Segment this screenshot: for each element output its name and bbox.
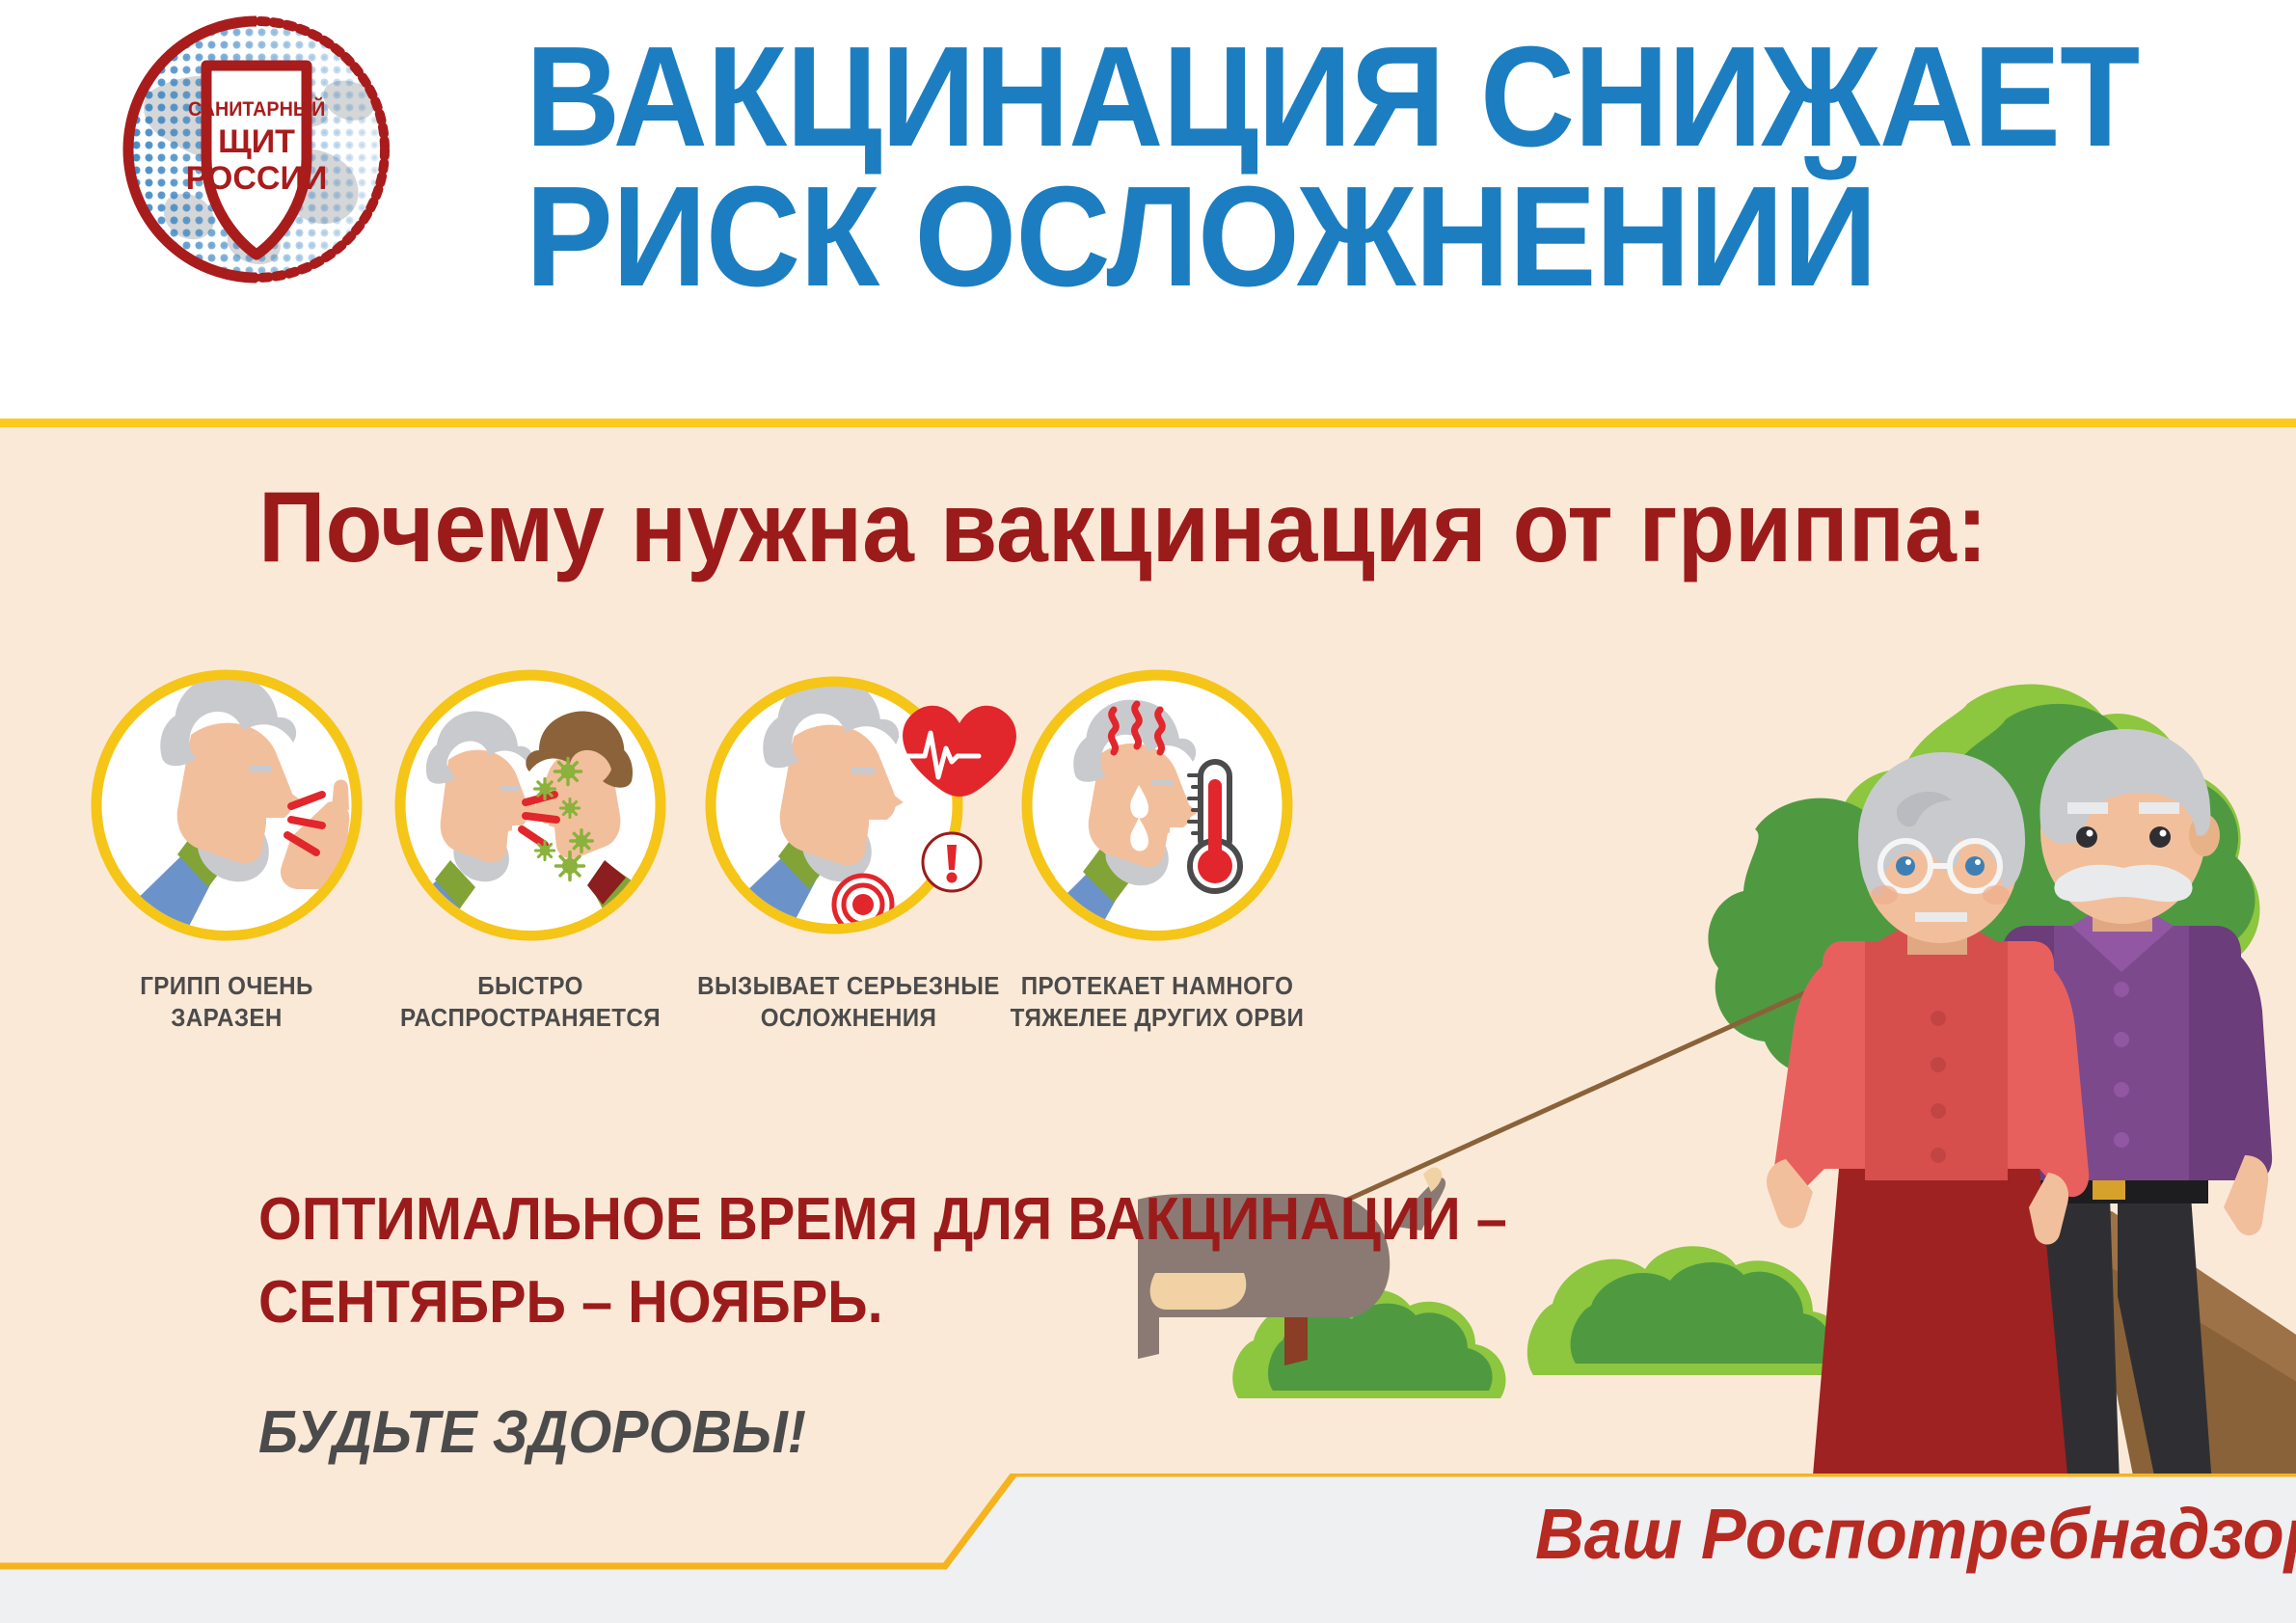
message-line-2: СЕНТЯБРЬ – НОЯБРЬ.: [258, 1261, 1507, 1344]
logo-line2: ЩИТ: [218, 123, 295, 160]
poster-title: ВАКЦИНАЦИЯ СНИЖАЕТ РИСК ОСЛОЖНЕНИЙ: [526, 27, 2261, 307]
eye-icon: [2076, 826, 2097, 848]
eye-icon: [2149, 826, 2171, 848]
logo-line3: РОССИИ: [186, 160, 328, 197]
health-wish: БУДЬТЕ ЗДОРОВЫ!: [258, 1403, 1507, 1463]
section-title: Почему нужна вакцинация от гриппа:: [258, 477, 1987, 578]
footer-organization-label: Ваш Роспотребнадзор: [1535, 1499, 2296, 1570]
moustache-icon: [2054, 865, 2192, 902]
header-divider-rule: [0, 419, 2296, 427]
vaccination-message-block: ОПТИМАЛЬНОЕ ВРЕМЯ ДЛЯ ВАКЦИНАЦИИ – СЕНТЯ…: [258, 1178, 1601, 1463]
reason-caption: ПРОТЕКАЕТ НАМНОГО ТЯЖЕЛЕЕ ДРУГИХ ОРВИ: [942, 970, 1372, 1035]
reason-item-severity: ПРОТЕКАЕТ НАМНОГО ТЯЖЕЛЕЕ ДРУГИХ ОРВИ: [926, 665, 1389, 1035]
caption-line-1: ПРОТЕКАЕТ НАМНОГО: [942, 970, 1372, 1002]
poster-root: САНИТАРНЫЙ ЩИТ РОССИИ ВАКЦИНАЦИЯ СНИЖАЕТ…: [0, 0, 2296, 1623]
message-line-1: ОПТИМАЛЬНОЕ ВРЕМЯ ДЛЯ ВАКЦИНАЦИИ –: [258, 1178, 1507, 1261]
title-line-2: РИСК ОСЛОЖНЕНИЙ: [526, 167, 2122, 307]
eye-icon: [1965, 856, 1985, 876]
poster-footer: Ваш Роспотребнадзор: [0, 1474, 2296, 1623]
caption-line-2: ТЯЖЕЛЕЕ ДРУГИХ ОРВИ: [942, 1002, 1372, 1034]
sanitary-shield-logo: САНИТАРНЫЙ ЩИТ РОССИИ: [93, 14, 420, 285]
poster-header: САНИТАРНЫЙ ЩИТ РОССИИ ВАКЦИНАЦИЯ СНИЖАЕТ…: [0, 0, 2296, 419]
title-line-1: ВАКЦИНАЦИЯ СНИЖАЕТ: [526, 27, 2122, 167]
fever-thermometer-icon: [1017, 665, 1297, 945]
logo-line1: САНИТАРНЫЙ: [188, 96, 325, 121]
reasons-row: ГРИПП ОЧЕНЬ ЗАРАЗЕН: [0, 665, 1929, 1070]
